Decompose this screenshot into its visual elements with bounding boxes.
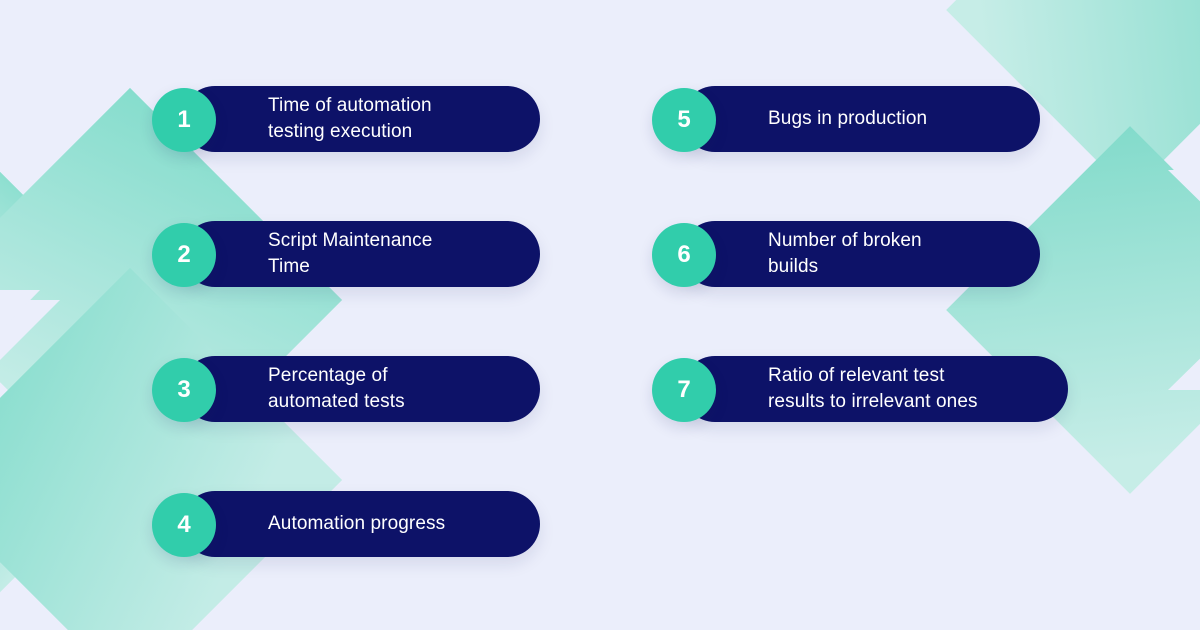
number-badge: 4 — [152, 493, 216, 557]
list-item[interactable]: Time of automation testing execution 1 — [152, 86, 216, 152]
list-item[interactable]: Automation progress 4 — [152, 491, 216, 557]
list-item[interactable]: Bugs in production 5 — [652, 86, 716, 152]
pill-card[interactable]: Time of automation testing execution — [182, 86, 540, 152]
number-badge: 6 — [652, 223, 716, 287]
list-item-label: Bugs in production — [682, 106, 953, 132]
pill-card[interactable]: Percentage of automated tests — [182, 356, 540, 422]
number-badge: 3 — [152, 358, 216, 422]
list-item[interactable]: Ratio of relevant test results to irrele… — [652, 356, 716, 422]
number-badge: 5 — [652, 88, 716, 152]
number-badge: 2 — [152, 223, 216, 287]
list-item[interactable]: Number of broken builds 6 — [652, 221, 716, 287]
list-item-label: Ratio of relevant test results to irrele… — [682, 363, 1004, 415]
pill-card[interactable]: Script Maintenance Time — [182, 221, 540, 287]
pill-card[interactable]: Number of broken builds — [682, 221, 1040, 287]
list-item-label: Script Maintenance Time — [182, 228, 458, 280]
list-item[interactable]: Percentage of automated tests 3 — [152, 356, 216, 422]
pill-card[interactable]: Automation progress — [182, 491, 540, 557]
number-badge: 1 — [152, 88, 216, 152]
number-badge: 7 — [652, 358, 716, 422]
list-item-label: Number of broken builds — [682, 228, 948, 280]
infographic-content: Time of automation testing execution 1 S… — [0, 0, 1200, 630]
pill-card[interactable]: Bugs in production — [682, 86, 1040, 152]
list-item[interactable]: Script Maintenance Time 2 — [152, 221, 216, 287]
list-item-label: Time of automation testing execution — [182, 93, 458, 145]
list-item-label: Automation progress — [182, 511, 471, 537]
list-item-label: Percentage of automated tests — [182, 363, 431, 415]
pill-card[interactable]: Ratio of relevant test results to irrele… — [682, 356, 1068, 422]
